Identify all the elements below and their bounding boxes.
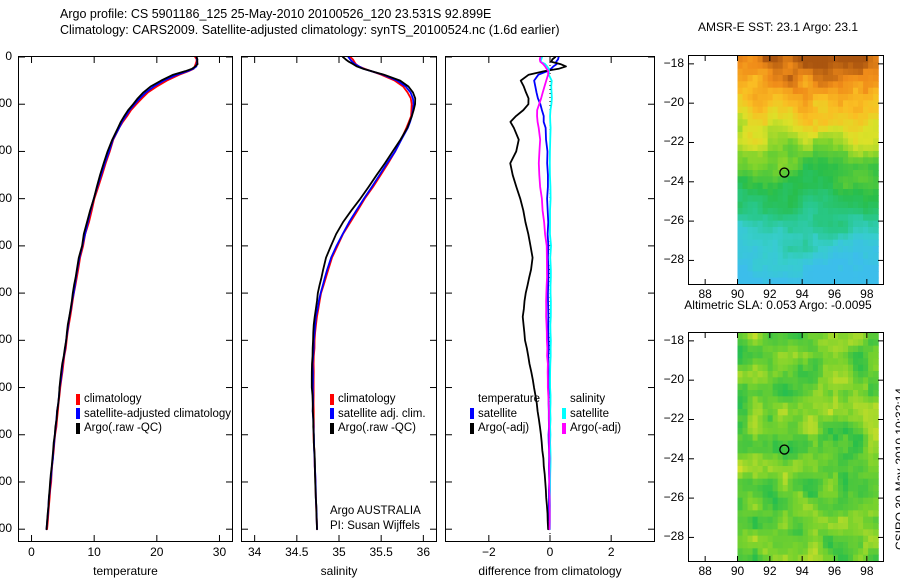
y-tick-label: 1600: [0, 427, 12, 441]
legend-label-argo-raw: Argo(.raw -QC): [84, 421, 162, 436]
y-tick-label: 400: [0, 143, 12, 157]
legend-swatch-temp-satellite: [470, 408, 474, 419]
legend-item-climatology-sal: climatology: [330, 392, 437, 407]
amsre-sst-map-title: AMSR-E SST: 23.1 Argo: 23.1: [668, 20, 888, 34]
x-tick-label: −2: [459, 545, 519, 559]
map-x-tick-label: 98: [847, 564, 887, 578]
y-tick-label: 0: [0, 49, 12, 63]
legend-item-temp-argo-adj: Argo(-adj): [470, 421, 540, 436]
legend-heading-salinity: salinity: [562, 392, 621, 407]
legend-label-satellite-adjusted: satellite-adjusted climatology: [84, 407, 231, 422]
credit-line-1: Argo AUSTRALIA: [330, 504, 421, 519]
y-tick-label: 200: [0, 96, 12, 110]
map-y-tick-label: −28: [656, 529, 684, 543]
legend-swatch-argo-raw: [76, 423, 80, 434]
difference-profile-panel: [445, 56, 655, 542]
y-tick-label: 2000: [0, 521, 12, 535]
difference-temperature-legend: temperature satellite Argo(-adj): [470, 392, 540, 436]
figure-title: Argo profile: CS 5901186_125 25-May-2010…: [60, 6, 560, 38]
map-y-tick-label: −26: [656, 490, 684, 504]
legend-item-temp-satellite: satellite: [470, 407, 540, 422]
legend-label-climatology: climatology: [84, 392, 142, 407]
legend-label-temp-argo-adj: Argo(-adj): [478, 421, 529, 436]
y-tick-label: 800: [0, 238, 12, 252]
map-y-tick-label: −24: [656, 451, 684, 465]
legend-item-climatology: climatology: [76, 392, 233, 407]
salinity-x-axis-label: salinity: [241, 564, 437, 578]
x-tick-label: 2: [581, 545, 641, 559]
map-y-tick-label: −26: [656, 213, 684, 227]
map-y-tick-label: −20: [656, 372, 684, 386]
legend-label-temp-satellite: satellite: [478, 407, 517, 422]
temperature-x-axis-label: temperature: [18, 564, 233, 578]
y-tick-label: 1000: [0, 285, 12, 299]
legend-item-satellite-adj-sal: satellite adj. clim.: [330, 407, 437, 422]
map-y-tick-label: −18: [656, 333, 684, 347]
legend-swatch-climatology: [76, 394, 80, 405]
legend-label-argo-raw-sal: Argo(.raw -QC): [338, 421, 416, 436]
legend-heading-temperature: temperature: [470, 392, 540, 407]
legend-item-argo-raw-sal: Argo(.raw -QC): [330, 421, 437, 436]
map-y-tick-label: −22: [656, 134, 684, 148]
map-y-tick-label: −22: [656, 411, 684, 425]
legend-item-sal-argo-adj: Argo(-adj): [562, 421, 621, 436]
x-tick-label: 20: [127, 545, 187, 559]
temperature-panel-legend: climatology satellite-adjusted climatolo…: [76, 392, 233, 436]
x-tick-label: 36: [393, 545, 453, 559]
legend-swatch-satellite-adjusted: [76, 408, 80, 419]
legend-label-climatology-sal: climatology: [338, 392, 396, 407]
salinity-panel-legend: climatology satellite adj. clim. Argo(.r…: [330, 392, 437, 436]
legend-swatch-temp-argo-adj: [470, 423, 474, 434]
y-tick-label: 1400: [0, 380, 12, 394]
y-tick-label: 1200: [0, 332, 12, 346]
map-y-tick-label: −28: [656, 252, 684, 266]
credit-line-2: PI: Susan Wijffels: [330, 519, 421, 534]
legend-label-sal-argo-adj: Argo(-adj): [570, 421, 621, 436]
map-y-tick-label: −20: [656, 95, 684, 109]
legend-swatch-argo-raw-sal: [330, 423, 334, 434]
x-tick-label: 10: [64, 545, 124, 559]
legend-item-satellite-adjusted: satellite-adjusted climatology: [76, 407, 233, 422]
legend-label-sal-satellite: satellite: [570, 407, 609, 422]
altimetric-sla-map-title: Altimetric SLA: 0.053 Argo: -0.0095: [668, 298, 888, 312]
credit-block: Argo AUSTRALIA PI: Susan Wijffels: [330, 504, 421, 534]
altimetric-sla-map-panel: [688, 332, 884, 562]
title-line-2: Climatology: CARS2009. Satellite-adjuste…: [60, 22, 560, 38]
legend-item-argo-raw: Argo(.raw -QC): [76, 421, 233, 436]
map-y-tick-label: −24: [656, 174, 684, 188]
x-tick-label: 0: [2, 545, 62, 559]
title-line-1: Argo profile: CS 5901186_125 25-May-2010…: [60, 6, 560, 22]
map-y-tick-label: −18: [656, 56, 684, 70]
legend-swatch-satellite-adj-sal: [330, 408, 334, 419]
legend-swatch-sal-argo-adj: [562, 423, 566, 434]
temperature-profile-panel: [18, 56, 233, 542]
difference-salinity-legend: salinity satellite Argo(-adj): [562, 392, 621, 436]
argo-profile-figure: Argo profile: CS 5901186_125 25-May-2010…: [0, 0, 900, 580]
y-tick-label: 1800: [0, 474, 12, 488]
difference-x-axis-label: difference from climatology: [435, 564, 665, 578]
salinity-profile-panel: [241, 56, 437, 542]
legend-label-satellite-adj-sal: satellite adj. clim.: [338, 407, 426, 422]
y-tick-label: 600: [0, 191, 12, 205]
legend-swatch-climatology-sal: [330, 394, 334, 405]
legend-swatch-sal-satellite: [562, 408, 566, 419]
x-tick-label: 0: [520, 545, 580, 559]
csiro-timestamp: CSIRO 30-May-2010 10:32:14: [893, 388, 900, 550]
legend-item-sal-satellite: satellite: [562, 407, 621, 422]
amsre-sst-map-panel: [688, 55, 884, 285]
